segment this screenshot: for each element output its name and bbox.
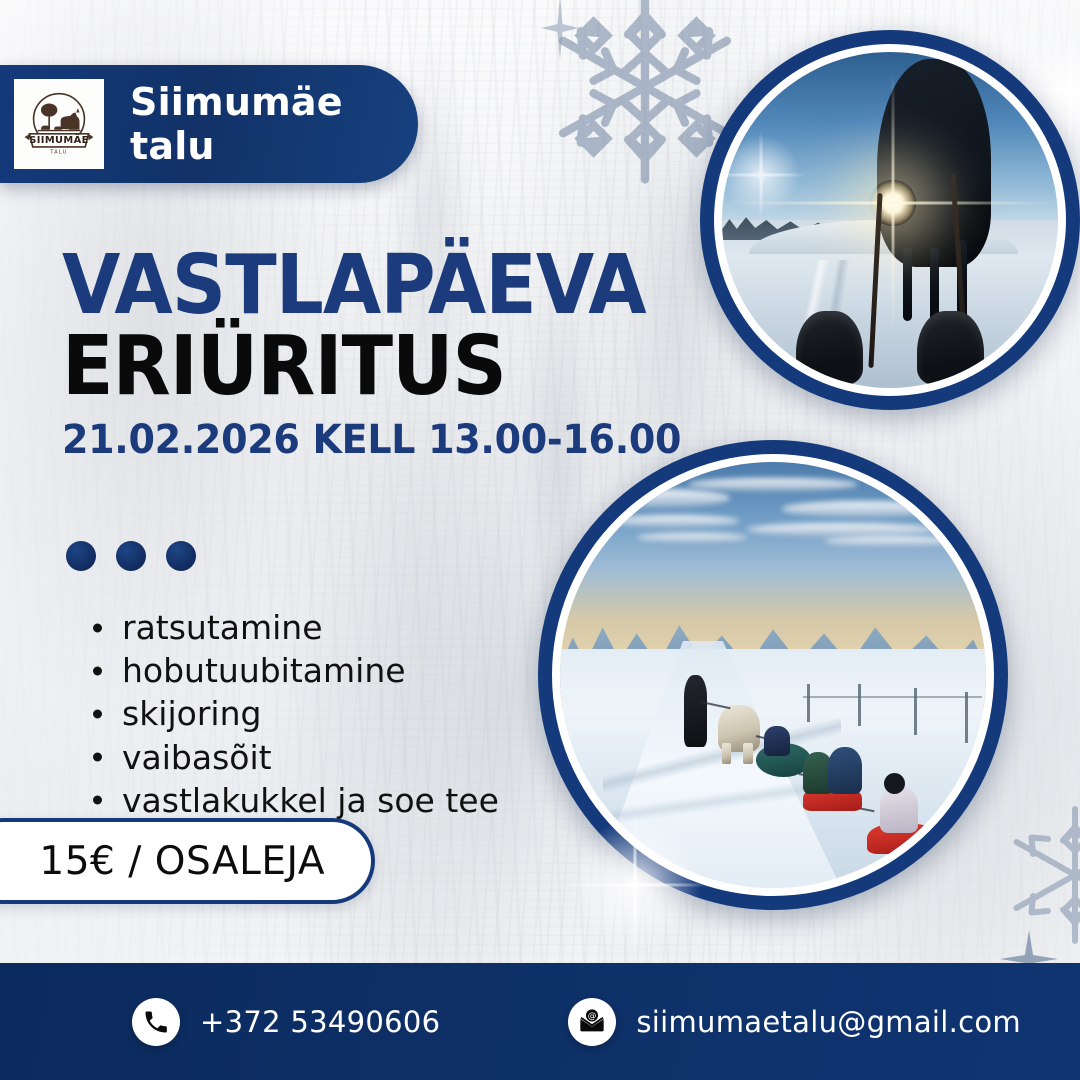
svg-text:@: @ (588, 1011, 597, 1021)
price-label: 15€ / OSALEJA (39, 839, 325, 884)
poster: SIIMUMÄE TALU Siimumäe talu VASTLAPÄEVA … (0, 0, 1080, 1080)
footer-contact-bar: +372 53490606 @ siimumaetalu@gmail.com (0, 963, 1080, 1080)
sparkle-icon (560, 810, 710, 960)
divider-dot (166, 541, 196, 571)
divider-dot (116, 541, 146, 571)
email-at-icon: @ (568, 998, 616, 1046)
phone-number: +372 53490606 (200, 1005, 440, 1039)
headline-block: VASTLAPÄEVA ERIÜRITUS 21.02.2026 KELL 13… (62, 248, 714, 463)
brand-pill: SIIMUMÄE TALU Siimumäe talu (0, 65, 418, 183)
list-item: vastlakukkel ja soe tee (86, 779, 499, 822)
dot-divider (66, 541, 196, 571)
photo-content (722, 52, 1058, 388)
farm-emblem-icon: SIIMUMÄE TALU (14, 79, 104, 169)
price-badge: 15€ / OSALEJA (0, 818, 375, 904)
phone-icon (132, 998, 180, 1046)
snowflake-icon (1000, 800, 1080, 950)
sparkle-icon (716, 130, 806, 220)
list-item: vaibasõit (86, 736, 499, 779)
event-datetime: 21.02.2026 KELL 13.00-16.00 (62, 417, 681, 463)
sparkle-icon (540, 0, 580, 60)
list-item: ratsutamine (86, 606, 499, 649)
contact-phone[interactable]: +372 53490606 (132, 998, 440, 1046)
contact-email[interactable]: @ siimumaetalu@gmail.com (568, 998, 1021, 1046)
email-address: siimumaetalu@gmail.com (636, 1005, 1021, 1039)
brand-name: Siimumäe talu (130, 80, 418, 168)
list-item: skijoring (86, 692, 499, 735)
list-item: hobutuubitamine (86, 649, 499, 692)
headline-line-1: VASTLAPÄEVA (62, 248, 662, 323)
divider-dot (66, 541, 96, 571)
svg-text:TALU: TALU (49, 150, 67, 156)
skijoring-photo (700, 30, 1080, 410)
headline-line-2: ERIÜRITUS (62, 329, 662, 404)
activity-list: ratsutamine hobutuubitamine skijoring va… (86, 606, 499, 822)
